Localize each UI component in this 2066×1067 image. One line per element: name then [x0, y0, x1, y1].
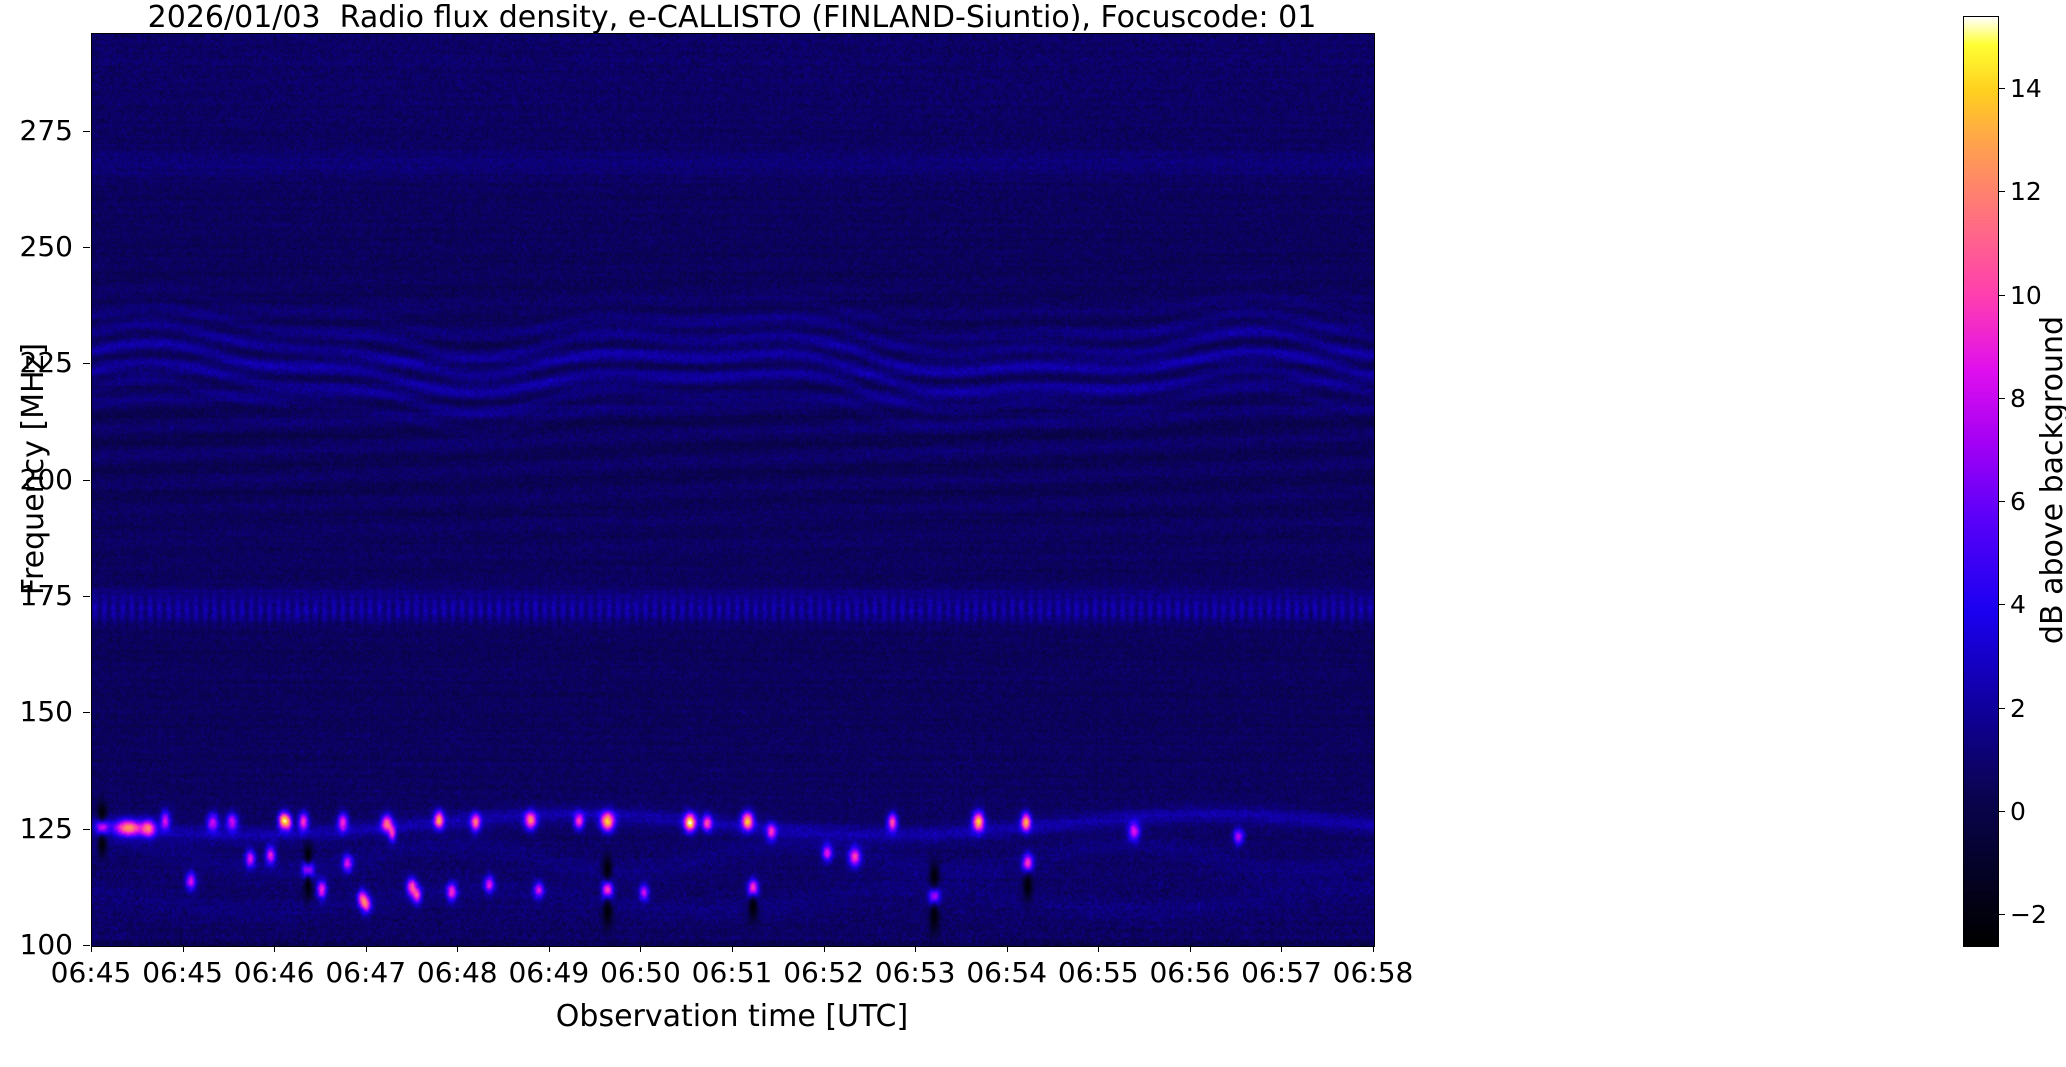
x-axis-tick-1: 06:45	[142, 957, 223, 989]
x-axis-tick-11: 06:55	[1058, 957, 1139, 989]
y-axis-tick-100: 100	[20, 931, 73, 959]
x-axis-tick-marks	[91, 945, 1375, 954]
y-axis-tick-mark	[83, 596, 90, 597]
colorbar-tick-mark	[1999, 708, 2005, 709]
colorbar-tick-mark	[1999, 914, 2005, 915]
y-axis-tick-marks	[83, 33, 92, 945]
x-axis-tick-mark	[549, 945, 550, 952]
y-axis-label: Frequency [MHz]	[19, 209, 49, 729]
x-axis-tick-5: 06:49	[508, 957, 589, 989]
x-axis-tick-mark	[915, 945, 916, 952]
y-axis-tick-275: 275	[20, 117, 73, 145]
colorbar-tick-0: −2	[2010, 902, 2047, 927]
x-axis-tick-0: 06:45	[51, 957, 132, 989]
x-axis-tick-mark	[1098, 945, 1099, 952]
x-axis-tick-8: 06:52	[783, 957, 864, 989]
y-axis-tick-mark	[83, 480, 90, 481]
y-axis-tick-mark	[83, 712, 90, 713]
colorbar-gradient	[1964, 17, 1998, 946]
x-axis-tick-mark	[91, 945, 92, 952]
x-axis-tick-7: 06:51	[692, 957, 773, 989]
x-axis-tick-3: 06:47	[325, 957, 406, 989]
x-axis-tick-14: 06:58	[1333, 957, 1414, 989]
colorbar-tick-mark	[1999, 398, 2005, 399]
page-title: 2026/01/03 Radio flux density, e-CALLIST…	[91, 3, 1373, 33]
x-axis-tick-mark	[1281, 945, 1282, 952]
x-axis-tick-mark	[732, 945, 733, 952]
y-axis-tick-mark	[83, 945, 90, 946]
spectrogram-image	[92, 34, 1374, 946]
x-axis-tick-mark	[824, 945, 825, 952]
colorbar[interactable]	[1963, 16, 1999, 947]
x-axis-label: Observation time [UTC]	[91, 1000, 1373, 1034]
x-axis-tick-labels: 06:4506:4506:4606:4706:4806:4906:5006:51…	[91, 957, 1375, 991]
colorbar-tick-5: 8	[2010, 386, 2026, 411]
x-axis-tick-13: 06:57	[1241, 957, 1322, 989]
colorbar-tick-mark	[1999, 501, 2005, 502]
colorbar-tick-7: 12	[2010, 179, 2042, 204]
colorbar-tick-mark	[1999, 295, 2005, 296]
x-axis-tick-4: 06:48	[417, 957, 498, 989]
colorbar-tick-4: 6	[2010, 489, 2026, 514]
y-axis-tick-mark	[83, 247, 90, 248]
x-axis-tick-mark	[366, 945, 367, 952]
colorbar-tick-8: 14	[2010, 76, 2042, 101]
x-axis-tick-mark	[640, 945, 641, 952]
x-axis-tick-mark	[1190, 945, 1191, 952]
y-axis-tick-mark	[83, 829, 90, 830]
x-axis-tick-9: 06:53	[875, 957, 956, 989]
x-axis-tick-12: 06:56	[1149, 957, 1230, 989]
y-axis-tick-mark	[83, 363, 90, 364]
x-axis-tick-6: 06:50	[600, 957, 681, 989]
colorbar-label: dB above background	[2038, 210, 2066, 750]
x-axis-tick-mark	[1007, 945, 1008, 952]
colorbar-tick-mark	[1999, 604, 2005, 605]
figure-canvas: 2026/01/03 Radio flux density, e-CALLIST…	[0, 0, 2066, 1067]
colorbar-tick-3: 4	[2010, 592, 2026, 617]
x-axis-tick-10: 06:54	[966, 957, 1047, 989]
colorbar-tick-mark	[1999, 88, 2005, 89]
x-axis-tick-2: 06:46	[234, 957, 315, 989]
colorbar-tick-mark	[1999, 191, 2005, 192]
spectrogram-axes[interactable]	[91, 33, 1375, 947]
x-axis-tick-mark	[183, 945, 184, 952]
x-axis-tick-mark	[274, 945, 275, 952]
y-axis-tick-125: 125	[20, 815, 73, 843]
colorbar-tick-2: 2	[2010, 696, 2026, 721]
y-axis-tick-mark	[83, 131, 90, 132]
x-axis-tick-mark	[1373, 945, 1374, 952]
colorbar-tick-mark	[1999, 811, 2005, 812]
colorbar-tick-1: 0	[2010, 799, 2026, 824]
x-axis-tick-mark	[457, 945, 458, 952]
